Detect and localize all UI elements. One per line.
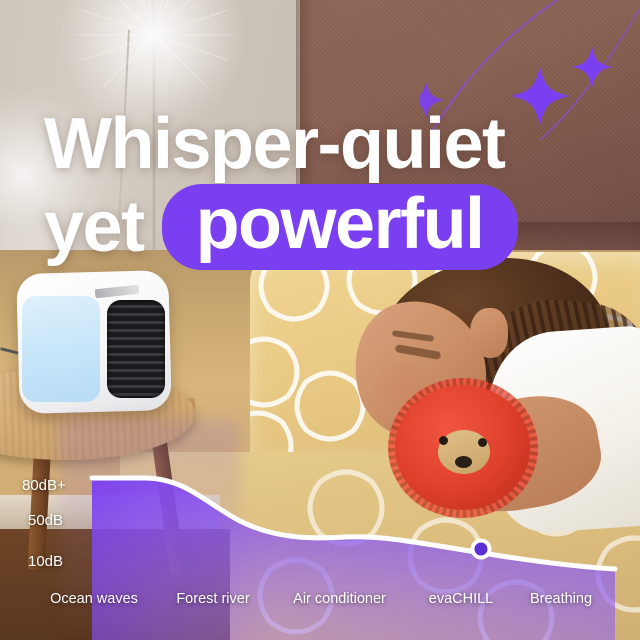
y-axis-tick-80db: 80dB+ — [22, 477, 66, 494]
plush-toy-eye — [478, 438, 487, 447]
plush-toy-eye — [439, 436, 448, 445]
ad-creative: Whisper-quiet yet powerful 80dB+ — [0, 0, 640, 640]
chart-highlight-marker-core — [475, 543, 488, 556]
x-axis-label-ocean-waves: Ocean waves — [34, 591, 154, 607]
chart-line — [92, 478, 615, 569]
headline-highlight-pill: powerful — [162, 184, 518, 270]
cooler-air-grille — [107, 300, 165, 398]
headline-line-2: yet powerful — [44, 184, 518, 270]
x-axis-label-forest-river: Forest river — [158, 591, 268, 607]
y-axis-tick-50db: 50dB — [28, 512, 63, 529]
y-axis-tick-10db: 10dB — [28, 553, 63, 570]
child-ear — [470, 308, 508, 358]
x-axis-labels: Ocean waves Forest river Air conditioner… — [0, 591, 640, 607]
x-axis-label-breathing: Breathing — [515, 591, 607, 607]
cooler-led-panel — [22, 296, 100, 402]
headline-plain-word: yet — [44, 187, 162, 267]
x-axis-label-evachill: evaCHILL — [413, 591, 509, 607]
noise-level-area-chart — [0, 455, 640, 640]
x-axis-label-air-conditioner: Air conditioner — [272, 591, 407, 607]
sparkle-icon — [572, 46, 612, 88]
headline-line-1: Whisper-quiet — [44, 104, 640, 184]
